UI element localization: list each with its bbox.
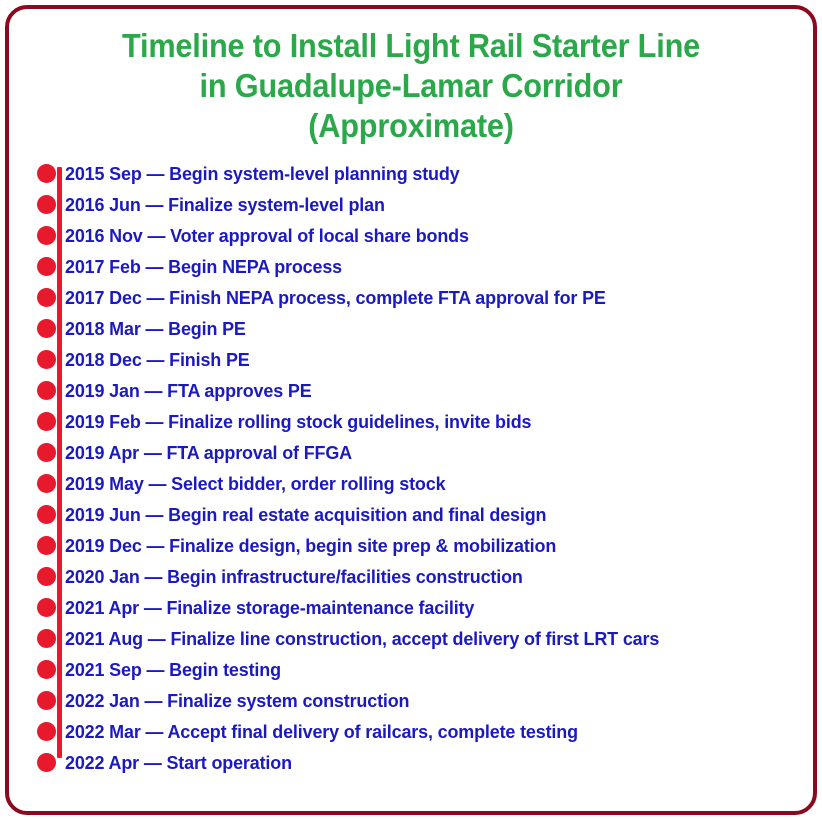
timeline-item: 2021 Aug — Finalize line construction, a…	[9, 623, 813, 654]
timeline-bullet-icon	[37, 257, 56, 276]
timeline-item: 2016 Nov — Voter approval of local share…	[9, 220, 813, 251]
timeline-bullet-icon	[37, 598, 56, 617]
page-title: Timeline to Install Light Rail Starter L…	[37, 9, 785, 146]
timeline-item: 2019 Jun — Begin real estate acquisition…	[9, 499, 813, 530]
timeline-bullet-icon	[37, 691, 56, 710]
timeline-item: 2021 Apr — Finalize storage-maintenance …	[9, 592, 813, 623]
timeline-item: 2016 Jun — Finalize system-level plan	[9, 189, 813, 220]
timeline-item: 2022 Apr — Start operation	[9, 747, 813, 778]
timeline-item-label: 2021 Apr — Finalize storage-maintenance …	[65, 597, 474, 619]
timeline-item-label: 2017 Feb — Begin NEPA process	[65, 256, 342, 278]
page-title-line-1: Timeline to Install Light Rail Starter L…	[50, 26, 772, 66]
timeline-item-label: 2016 Nov — Voter approval of local share…	[65, 225, 469, 247]
timeline-bullet-icon	[37, 350, 56, 369]
timeline-item: 2019 Dec — Finalize design, begin site p…	[9, 530, 813, 561]
timeline-item: 2019 Jan — FTA approves PE	[9, 375, 813, 406]
timeline-item-label: 2022 Jan — Finalize system construction	[65, 690, 409, 712]
timeline-item-label: 2019 Jun — Begin real estate acquisition…	[65, 504, 546, 526]
timeline-item: 2019 May — Select bidder, order rolling …	[9, 468, 813, 499]
timeline-bullet-icon	[37, 412, 56, 431]
timeline-item: 2017 Dec — Finish NEPA process, complete…	[9, 282, 813, 313]
page-title-line-2: in Guadalupe-Lamar Corridor	[50, 66, 772, 106]
timeline-bullet-icon	[37, 722, 56, 741]
timeline-item-label: 2019 May — Select bidder, order rolling …	[65, 473, 445, 495]
timeline-item-label: 2020 Jan — Begin infrastructure/faciliti…	[65, 566, 523, 588]
timeline-item: 2022 Jan — Finalize system construction	[9, 685, 813, 716]
timeline-bullet-icon	[37, 288, 56, 307]
timeline-item: 2017 Feb — Begin NEPA process	[9, 251, 813, 282]
timeline-bullet-icon	[37, 195, 56, 214]
timeline-item-label: 2021 Aug — Finalize line construction, a…	[65, 628, 659, 650]
timeline-item-label: 2019 Dec — Finalize design, begin site p…	[65, 535, 556, 557]
timeline-item-label: 2019 Feb — Finalize rolling stock guidel…	[65, 411, 531, 433]
timeline-item: 2022 Mar — Accept final delivery of rail…	[9, 716, 813, 747]
timeline-item-label: 2021 Sep — Begin testing	[65, 659, 281, 681]
timeline-list: 2015 Sep — Begin system-level planning s…	[9, 158, 813, 778]
timeline-item-label: 2018 Mar — Begin PE	[65, 318, 246, 340]
timeline-bullet-icon	[37, 567, 56, 586]
timeline-bullet-icon	[37, 443, 56, 462]
timeline-item-label: 2019 Apr — FTA approval of FFGA	[65, 442, 352, 464]
timeline-item: 2020 Jan — Begin infrastructure/faciliti…	[9, 561, 813, 592]
timeline-item: 2019 Feb — Finalize rolling stock guidel…	[9, 406, 813, 437]
timeline-item-label: 2022 Apr — Start operation	[65, 752, 292, 774]
timeline-item: 2015 Sep — Begin system-level planning s…	[9, 158, 813, 189]
timeline-item: 2018 Dec — Finish PE	[9, 344, 813, 375]
timeline-item: 2021 Sep — Begin testing	[9, 654, 813, 685]
timeline-bullet-icon	[37, 505, 56, 524]
timeline-item-label: 2015 Sep — Begin system-level planning s…	[65, 163, 460, 185]
timeline-bullet-icon	[37, 629, 56, 648]
timeline-item: 2019 Apr — FTA approval of FFGA	[9, 437, 813, 468]
timeline-item-label: 2017 Dec — Finish NEPA process, complete…	[65, 287, 606, 309]
timeline-bullet-icon	[37, 164, 56, 183]
timeline-item-label: 2018 Dec — Finish PE	[65, 349, 250, 371]
timeline-bullet-icon	[37, 660, 56, 679]
timeline-item-label: 2019 Jan — FTA approves PE	[65, 380, 312, 402]
timeline-bullet-icon	[37, 474, 56, 493]
timeline-bullet-icon	[37, 753, 56, 772]
timeline-item-label: 2022 Mar — Accept final delivery of rail…	[65, 721, 578, 743]
timeline-item-label: 2016 Jun — Finalize system-level plan	[65, 194, 385, 216]
timeline-bullet-icon	[37, 381, 56, 400]
timeline-bullet-icon	[37, 536, 56, 555]
timeline-bullet-icon	[37, 226, 56, 245]
timeline-card: Timeline to Install Light Rail Starter L…	[5, 5, 817, 815]
timeline-bullet-icon	[37, 319, 56, 338]
page-title-line-3: (Approximate)	[50, 106, 772, 146]
timeline-item: 2018 Mar — Begin PE	[9, 313, 813, 344]
